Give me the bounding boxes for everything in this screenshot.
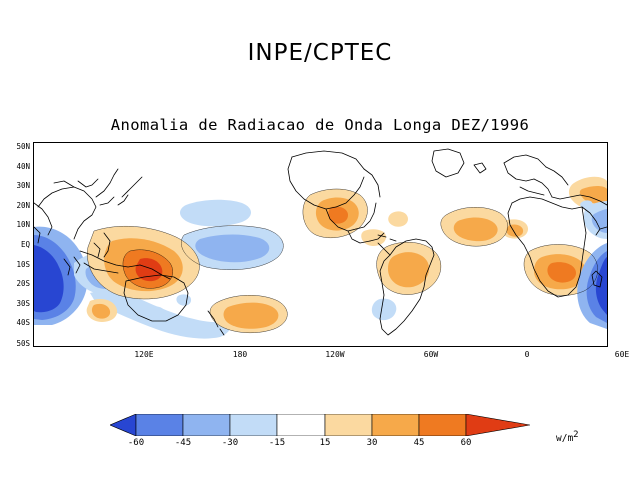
colorbar-tick-45: 45 — [399, 438, 439, 448]
y-tick-40S: 40S — [0, 318, 30, 327]
colorbar-tick-60: 60 — [446, 438, 486, 448]
y-tick-30N: 30N — [0, 181, 30, 190]
y-tick-10S: 10S — [0, 260, 30, 269]
colorbar-tick-30: 30 — [352, 438, 392, 448]
colorbar-tick--30: -30 — [210, 438, 250, 448]
y-tick-EQ: EQ — [0, 240, 30, 249]
figure-root: INPE/CPTEC Anomalia de Radiacao de Onda … — [0, 0, 640, 494]
chart-title: Anomalia de Radiacao de Onda Longa DEZ/1… — [0, 116, 640, 134]
colorbar-tick--45: -45 — [163, 438, 203, 448]
y-tick-40N: 40N — [0, 162, 30, 171]
y-tick-10N: 10N — [0, 220, 30, 229]
colorbar-tick-15: 15 — [305, 438, 345, 448]
x-tick-120W: 120W — [313, 350, 357, 359]
y-tick-50N: 50N — [0, 142, 30, 151]
x-tick-60W: 60W — [409, 350, 453, 359]
map-plot-area — [33, 142, 608, 347]
colorbar-tick--60: -60 — [116, 438, 156, 448]
page-title: INPE/CPTEC — [0, 40, 640, 66]
colorbar-units-text: w/m — [556, 433, 573, 444]
anomaly-map — [34, 143, 607, 346]
x-tick-0: 0 — [505, 350, 549, 359]
colorbar: -60 -45 -30 -15 15 30 45 60 — [110, 414, 530, 436]
y-tick-50S: 50S — [0, 339, 30, 348]
colorbar-units: w/m2 — [556, 430, 579, 444]
y-tick-20S: 20S — [0, 279, 30, 288]
x-tick-120E: 120E — [122, 350, 166, 359]
y-tick-20N: 20N — [0, 201, 30, 210]
x-tick-60E: 60E — [600, 350, 640, 359]
y-tick-30S: 30S — [0, 299, 30, 308]
x-tick-180: 180 — [218, 350, 262, 359]
colorbar-units-exponent: 2 — [573, 430, 578, 440]
colorbar-tick--15: -15 — [257, 438, 297, 448]
colorbar-swatches — [110, 414, 530, 436]
